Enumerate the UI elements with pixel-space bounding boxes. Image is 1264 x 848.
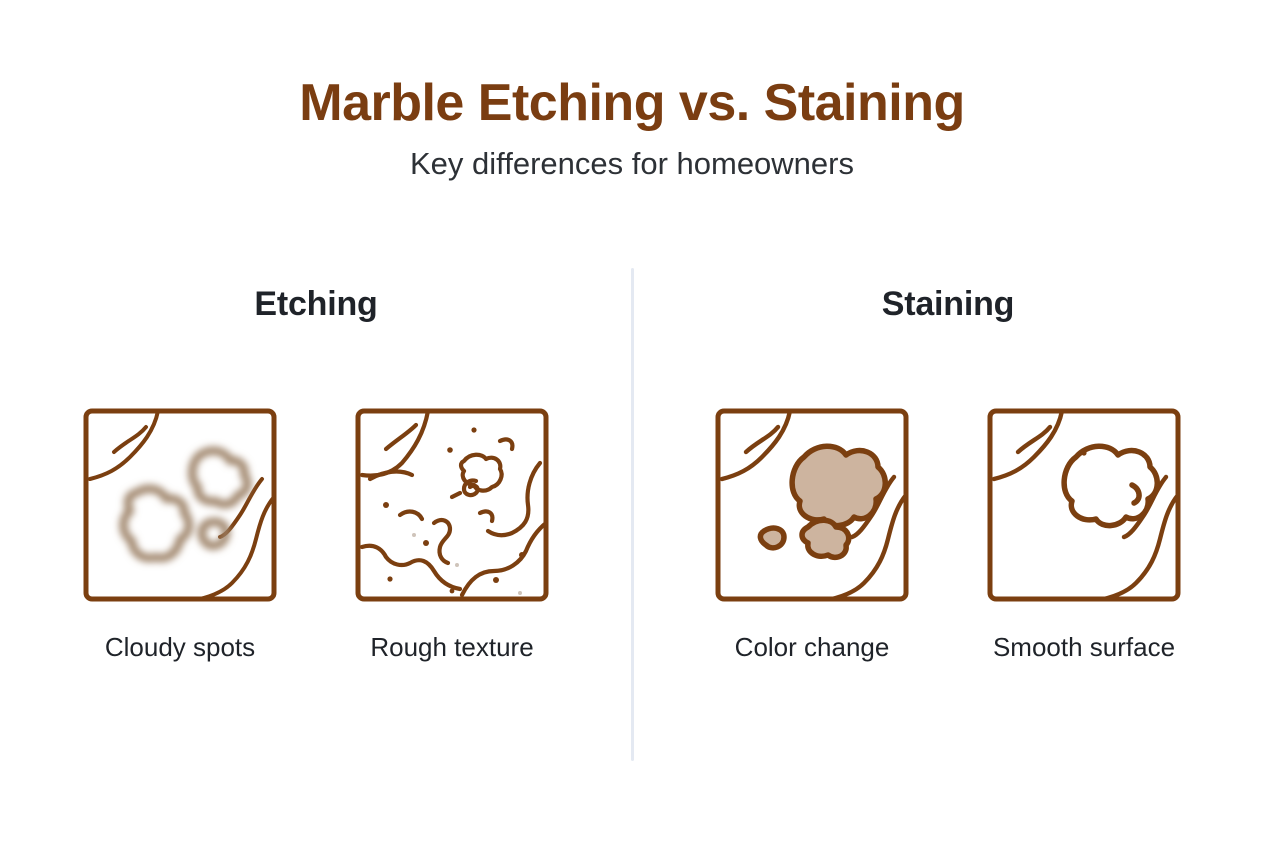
page-subtitle: Key differences for homeowners <box>0 144 1264 184</box>
infographic-root: Marble Etching vs. Staining Key differen… <box>0 0 1264 848</box>
card-group-staining: Color change <box>632 405 1264 663</box>
page-title: Marble Etching vs. Staining <box>0 72 1264 134</box>
header: Marble Etching vs. Staining Key differen… <box>0 72 1264 184</box>
marble-tile-smooth-surface-icon <box>984 405 1184 605</box>
column-heading-staining: Staining <box>632 268 1264 326</box>
column-etching: Etching <box>0 268 632 768</box>
card-label-cloudy-spots: Cloudy spots <box>105 631 255 663</box>
card-color-change[interactable]: Color change <box>712 405 912 663</box>
icon-box-cloudy-spots <box>80 405 280 605</box>
icon-box-color-change <box>712 405 912 605</box>
card-cloudy-spots[interactable]: Cloudy spots <box>80 405 280 663</box>
marble-tile-cloudy-spots-icon <box>80 405 280 605</box>
card-label-smooth-surface: Smooth surface <box>993 631 1175 663</box>
card-label-color-change: Color change <box>735 631 890 663</box>
icon-box-rough-texture <box>352 405 552 605</box>
comparison-columns: Etching <box>0 268 1264 768</box>
icon-box-smooth-surface <box>984 405 1184 605</box>
column-staining: Staining <box>632 268 1264 768</box>
marble-tile-rough-texture-icon <box>352 405 552 605</box>
card-rough-texture[interactable]: Rough texture <box>352 405 552 663</box>
column-heading-etching: Etching <box>0 268 632 326</box>
marble-tile-color-change-icon <box>712 405 912 605</box>
card-group-etching: Cloudy spots <box>0 405 632 663</box>
card-smooth-surface[interactable]: Smooth surface <box>984 405 1184 663</box>
card-label-rough-texture: Rough texture <box>370 631 533 663</box>
